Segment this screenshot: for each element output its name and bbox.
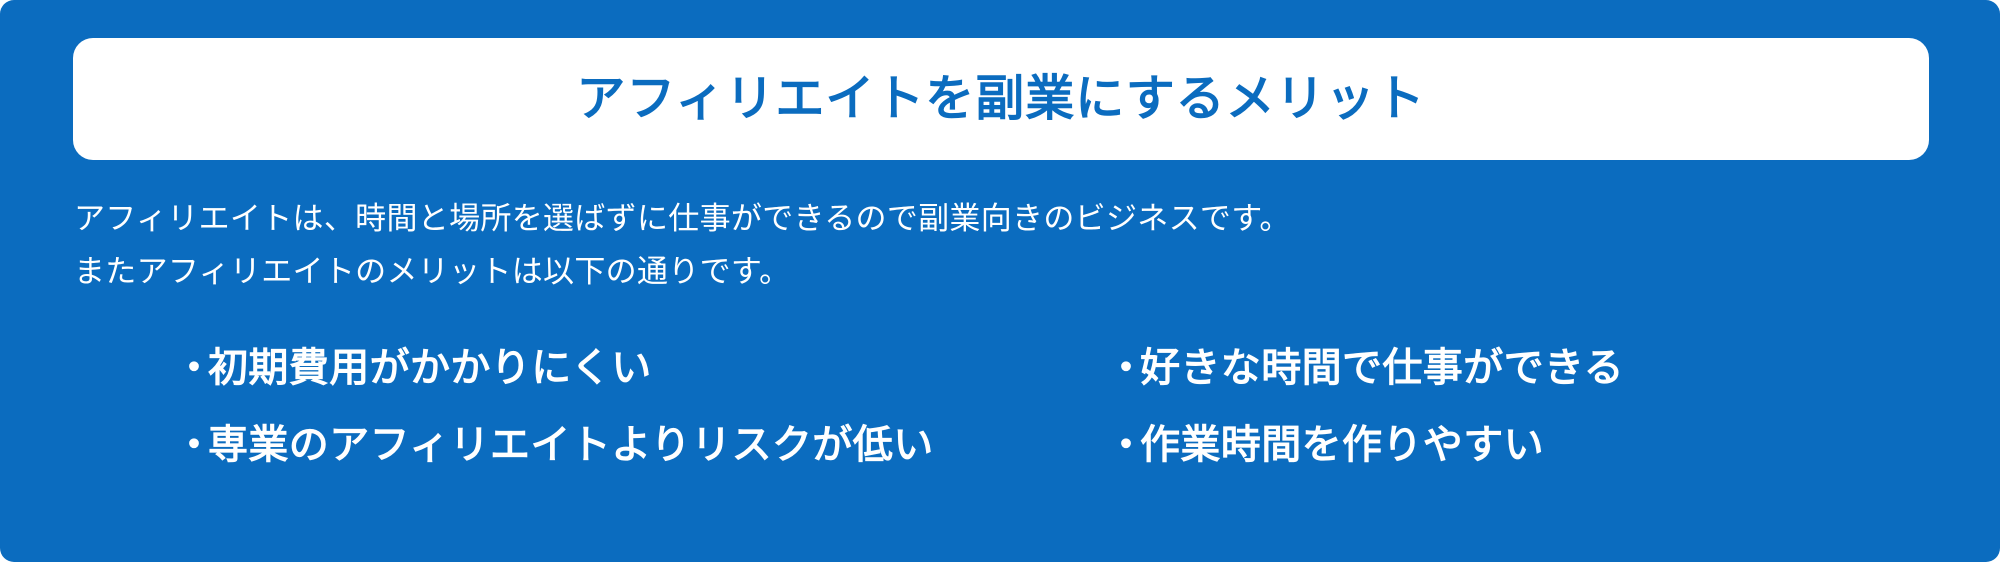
- bullet-icon: ・: [174, 345, 208, 392]
- list-item-label: 好きな時間で仕事ができる: [1140, 345, 1624, 392]
- title-card: アフィリエイトを副業にするメリット: [73, 38, 1929, 160]
- bullet-icon: ・: [1106, 345, 1140, 392]
- intro-line-2: またアフィリエイトのメリットは以下の通りです。: [74, 245, 1934, 298]
- benefits-columns: ・ 初期費用がかかりにくい ・ 専業のアフィリエイトよりリスクが低い ・ 好きな…: [74, 345, 1934, 469]
- benefits-panel: アフィリエイトを副業にするメリット アフィリエイトは、時間と場所を選ばずに仕事が…: [0, 0, 2000, 562]
- bullet-icon: ・: [174, 422, 208, 469]
- benefits-column-left: ・ 初期費用がかかりにくい ・ 専業のアフィリエイトよりリスクが低い: [74, 345, 1094, 469]
- intro-line-1: アフィリエイトは、時間と場所を選ばずに仕事ができるので副業向きのビジネスです。: [74, 192, 1934, 245]
- page-title: アフィリエイトを副業にするメリット: [576, 75, 1425, 124]
- bullet-icon: ・: [1106, 422, 1140, 469]
- intro-paragraph: アフィリエイトは、時間と場所を選ばずに仕事ができるので副業向きのビジネスです。 …: [74, 192, 1934, 299]
- list-item: ・ 作業時間を作りやすい: [1106, 422, 1934, 469]
- list-item-label: 初期費用がかかりにくい: [208, 345, 652, 392]
- benefits-column-right: ・ 好きな時間で仕事ができる ・ 作業時間を作りやすい: [1094, 345, 1934, 469]
- list-item: ・ 初期費用がかかりにくい: [174, 345, 1094, 392]
- list-item: ・ 専業のアフィリエイトよりリスクが低い: [174, 422, 1094, 469]
- list-item: ・ 好きな時間で仕事ができる: [1106, 345, 1934, 392]
- list-item-label: 専業のアフィリエイトよりリスクが低い: [208, 422, 934, 469]
- list-item-label: 作業時間を作りやすい: [1140, 422, 1544, 469]
